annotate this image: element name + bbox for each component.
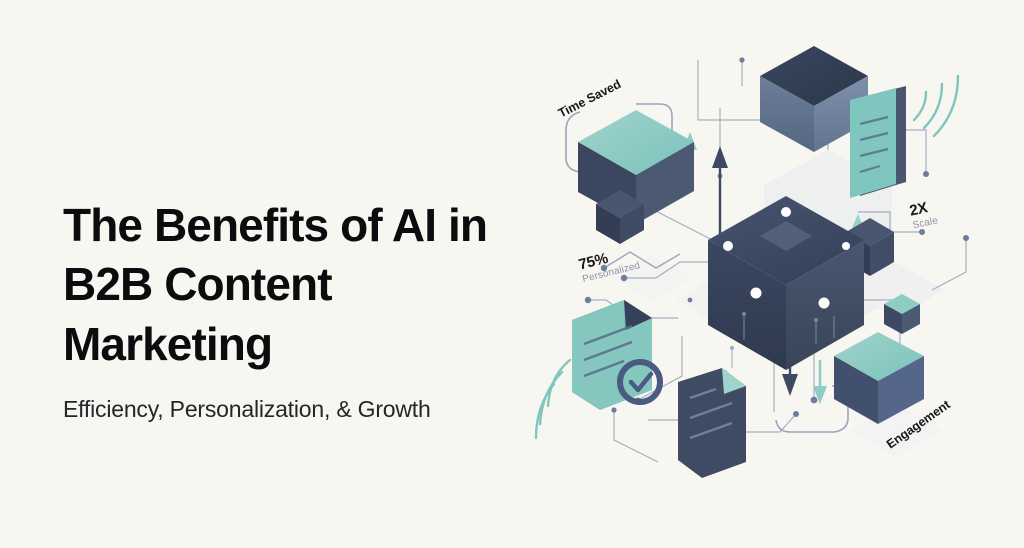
isometric-ai-illustration bbox=[528, 0, 1024, 548]
navy-document-bottom bbox=[678, 368, 746, 478]
hero-text-block: The Benefits of AI in B2B Content Market… bbox=[63, 196, 583, 423]
teal-document-check-left bbox=[572, 300, 660, 410]
bracket-personalized-dot bbox=[601, 265, 607, 271]
slide-canvas: The Benefits of AI in B2B Content Market… bbox=[0, 0, 1024, 548]
page-subtitle: Efficiency, Personalization, & Growth bbox=[63, 374, 583, 423]
teal-document-panel-right bbox=[850, 86, 906, 198]
signal-arcs-right bbox=[914, 76, 958, 136]
signal-arcs-left bbox=[536, 360, 570, 438]
page-title: The Benefits of AI in B2B Content Market… bbox=[63, 196, 583, 374]
